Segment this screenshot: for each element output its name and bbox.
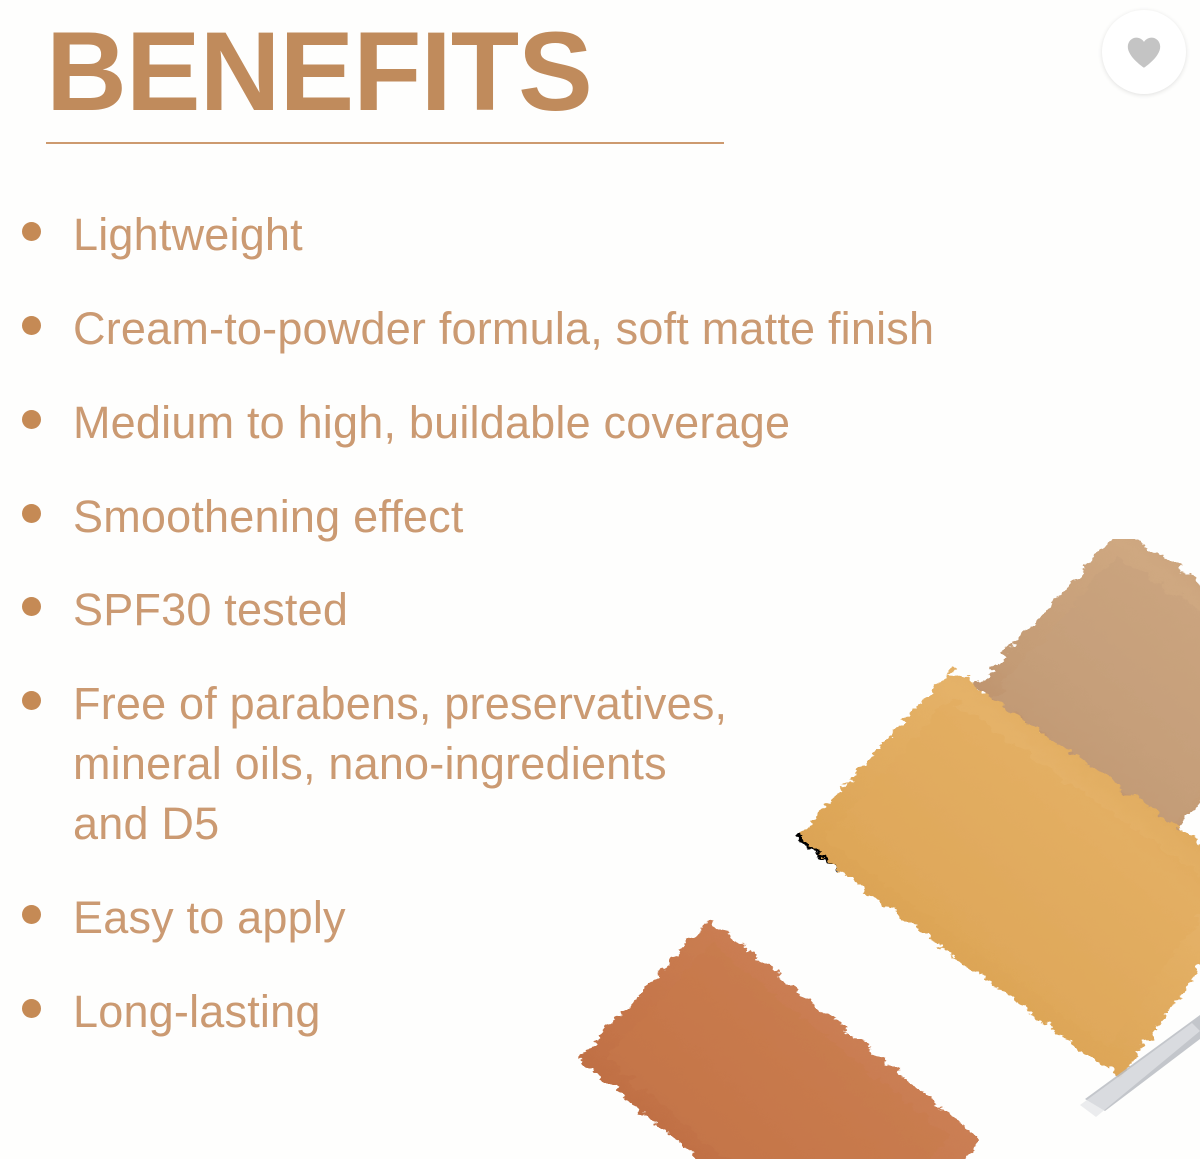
benefits-list: Lightweight Cream-to-powder formula, sof… (22, 205, 1187, 1075)
list-item: Easy to apply (22, 888, 1187, 948)
title-block: BENEFITS (46, 14, 736, 144)
title-underline (46, 142, 724, 144)
list-item: Long-lasting (22, 982, 1187, 1042)
list-item: Free of parabens, preservatives, mineral… (22, 674, 1187, 854)
benefit-label: Free of parabens, preservatives, mineral… (73, 674, 727, 854)
list-item: Medium to high, buildable coverage (22, 393, 1187, 453)
list-item: SPF30 tested (22, 580, 1187, 640)
bullet-icon (22, 597, 41, 616)
bullet-icon (22, 316, 41, 335)
list-item: Cream-to-powder formula, soft matte fini… (22, 299, 1187, 359)
benefit-label: Medium to high, buildable coverage (73, 393, 790, 453)
bullet-icon (22, 999, 41, 1018)
favorite-button[interactable] (1102, 10, 1186, 94)
bullet-icon (22, 504, 41, 523)
benefit-label: Long-lasting (73, 982, 321, 1042)
benefits-panel: BENEFITS Lightweight Cream-to-powder for… (0, 0, 1200, 1159)
benefit-label: SPF30 tested (73, 580, 348, 640)
bullet-icon (22, 691, 41, 710)
heart-icon (1126, 36, 1162, 69)
bullet-icon (22, 222, 41, 241)
benefit-label: Easy to apply (73, 888, 346, 948)
benefit-label: Lightweight (73, 205, 303, 265)
list-item: Smoothening effect (22, 487, 1187, 547)
benefit-label: Smoothening effect (73, 487, 464, 547)
list-item: Lightweight (22, 205, 1187, 265)
bullet-icon (22, 905, 41, 924)
page-title: BENEFITS (46, 14, 736, 130)
bullet-icon (22, 410, 41, 429)
benefit-label: Cream-to-powder formula, soft matte fini… (73, 299, 934, 359)
